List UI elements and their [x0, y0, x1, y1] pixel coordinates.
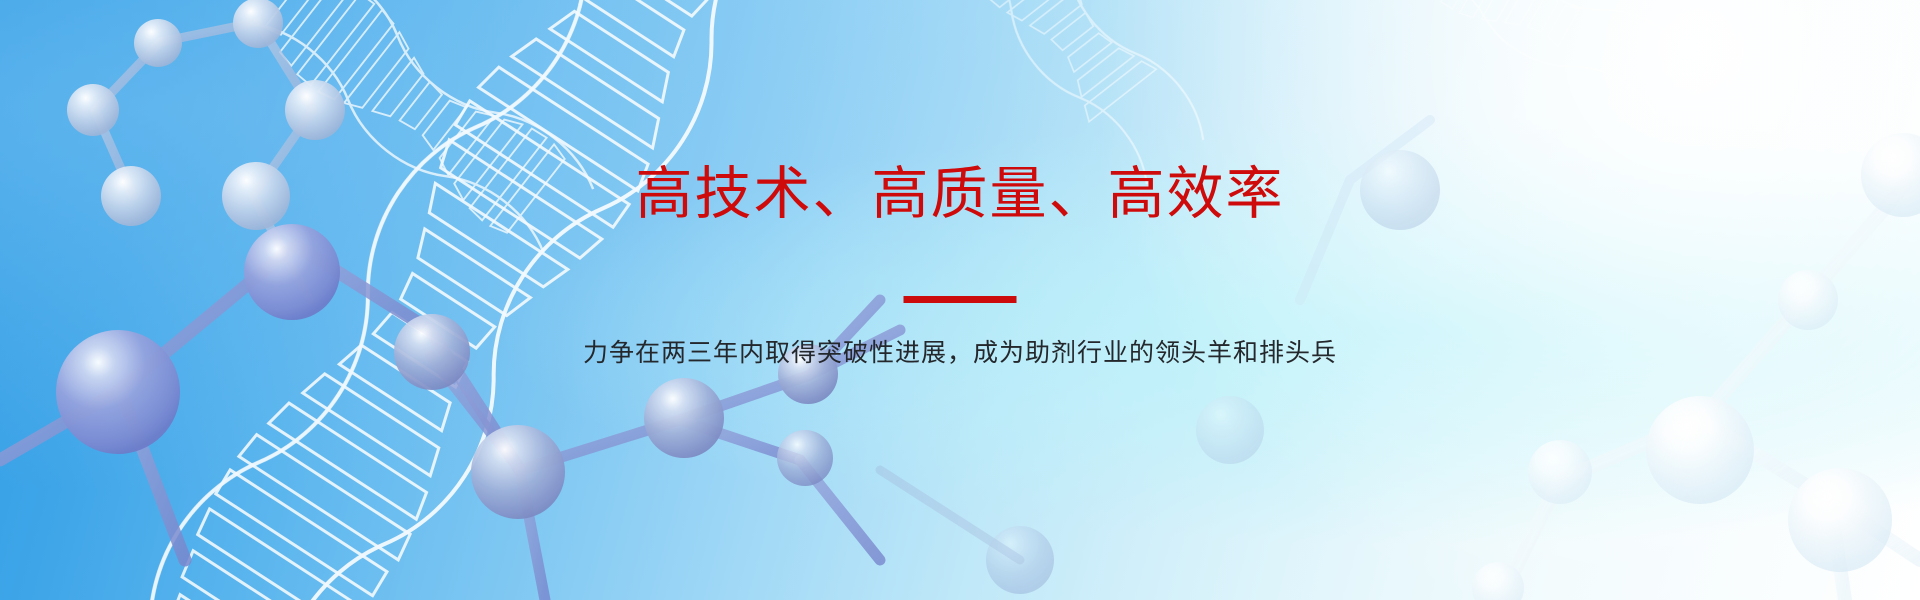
banner-content: 高技术、高质量、高效率 力争在两三年内取得突破性进展，成为助剂行业的领头羊和排头…: [0, 0, 1920, 600]
banner-title: 高技术、高质量、高效率: [0, 163, 1920, 227]
hero-banner: 高技术、高质量、高效率 力争在两三年内取得突破性进展，成为助剂行业的领头羊和排头…: [0, 0, 1920, 600]
banner-subtitle: 力争在两三年内取得突破性进展，成为助剂行业的领头羊和排头兵: [0, 338, 1920, 368]
title-divider: [904, 296, 1017, 303]
